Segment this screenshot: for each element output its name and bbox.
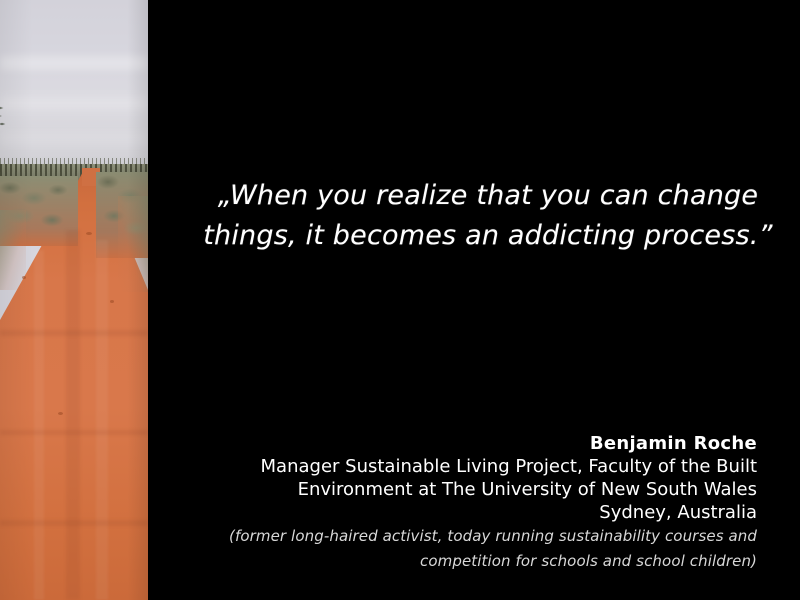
speaker-role-line-1: Manager Sustainable Living Project, Facu… — [180, 455, 757, 478]
speaker-note-line-2: competition for schools and school child… — [180, 549, 757, 574]
quote-text: „When you realize that you can change th… — [196, 176, 780, 256]
speaker-name: Benjamin Roche — [180, 432, 757, 455]
speaker-role-line-2: Environment at The University of New Sou… — [180, 478, 757, 501]
quote-line-1: „When you realize that you can change — [196, 176, 780, 216]
speaker-note-line-1: (former long-haired activist, today runn… — [180, 524, 757, 549]
speaker-location: Sydney, Australia — [180, 501, 757, 524]
presentation-slide: „When you realize that you can change th… — [0, 0, 800, 600]
outback-road-photo — [0, 0, 148, 600]
attribution-block: Benjamin Roche Manager Sustainable Livin… — [180, 432, 757, 574]
photo-vignette — [0, 0, 148, 600]
quote-line-2: things, it becomes an addicting process.… — [196, 216, 780, 256]
